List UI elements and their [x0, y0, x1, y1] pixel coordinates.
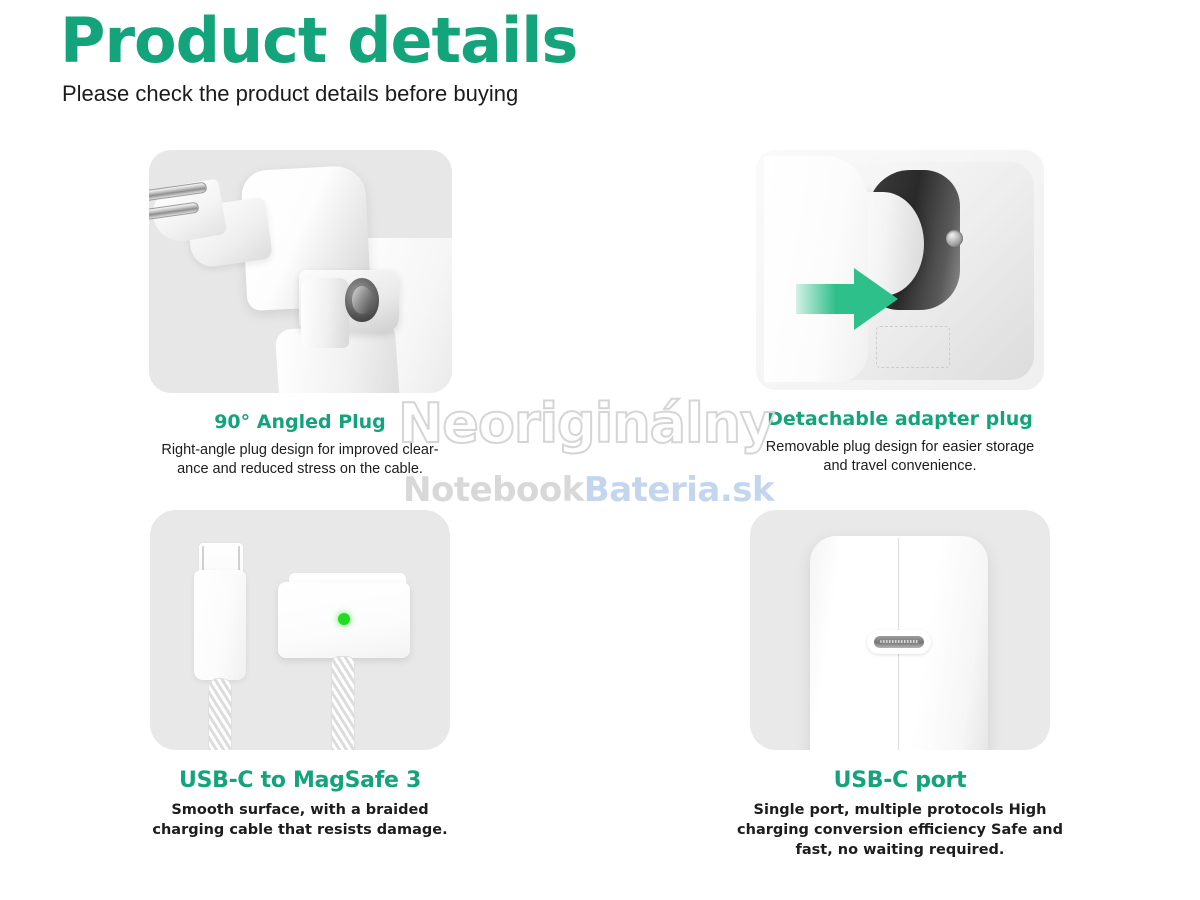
feature-description: Smooth surface, with a braided charging … — [0, 801, 600, 840]
eu-plug-illustration — [149, 150, 452, 393]
usbc-port-image — [750, 510, 1050, 750]
feature-description-line: Single port, multiple protocols High — [600, 801, 1200, 821]
usbc-to-magsafe-caption: USB-C to MagSafe 3 Smooth surface, with … — [0, 768, 600, 841]
feature-description: Right-angle plug design for improved cle… — [0, 441, 600, 480]
plug-stem-shape — [301, 278, 349, 348]
feature-card-detachable-plug: Detachable adapter plug Removable plug d… — [600, 150, 1200, 510]
feature-description-line: Smooth surface, with a braided — [0, 801, 600, 821]
usbc-port-caption: USB-C port Single port, multiple protoco… — [600, 768, 1200, 860]
detachable-plug-caption: Detachable adapter plug Removable plug d… — [600, 408, 1200, 477]
charging-led-indicator — [338, 613, 350, 625]
feature-title: USB-C to MagSafe 3 — [0, 768, 600, 794]
feature-card-usbc-to-magsafe: USB-C to MagSafe 3 Smooth surface, with … — [0, 510, 600, 880]
feature-title: USB-C port — [600, 768, 1200, 794]
feature-grid: 90° Angled Plug Right-angle plug design … — [0, 150, 1200, 880]
detachable-plug-illustration — [756, 150, 1044, 390]
page-header: Product details Please check the product… — [60, 8, 1060, 107]
product-details-page: Product details Please check the product… — [0, 0, 1200, 900]
detachable-plug-image — [756, 150, 1044, 390]
rotation-hub-ring — [352, 286, 372, 314]
usb-c-port-slot-icon — [874, 636, 924, 648]
feature-description-line: fast, no waiting required. — [600, 841, 1200, 861]
feature-description-line: and travel convenience. — [600, 457, 1200, 477]
feature-row-1: 90° Angled Plug Right-angle plug design … — [0, 150, 1200, 510]
feature-row-2: USB-C to MagSafe 3 Smooth surface, with … — [0, 510, 1200, 880]
feature-description-line: ance and reduced stress on the cable. — [0, 460, 600, 480]
angled-plug-image — [149, 150, 452, 393]
feature-description: Removable plug design for easier storage… — [600, 438, 1200, 477]
screw-icon — [946, 230, 963, 247]
feature-description-line: Removable plug design for easier storage — [600, 438, 1200, 458]
direction-arrow-icon — [796, 268, 901, 330]
feature-description-line: charging cable that resists damage. — [0, 821, 600, 841]
feature-description-line: charging conversion efficiency Safe and — [600, 821, 1200, 841]
feature-title: Detachable adapter plug — [600, 408, 1200, 431]
braided-cable-usbc-side — [208, 678, 232, 750]
ghost-outline-shape — [876, 326, 950, 368]
usbc-to-magsafe-image — [150, 510, 450, 750]
charger-port-illustration — [750, 510, 1050, 750]
braided-cable-magsafe-side — [331, 656, 355, 750]
page-subtitle: Please check the product details before … — [62, 81, 1060, 107]
feature-title: 90° Angled Plug — [0, 411, 600, 434]
cable-illustration — [150, 510, 450, 750]
usb-c-connector-shell — [194, 570, 246, 680]
feature-card-angled-plug: 90° Angled Plug Right-angle plug design … — [0, 150, 600, 510]
arrow-head — [854, 268, 898, 330]
angled-plug-caption: 90° Angled Plug Right-angle plug design … — [0, 411, 600, 480]
feature-card-usbc-port: USB-C port Single port, multiple protoco… — [600, 510, 1200, 880]
feature-description: Single port, multiple protocols High cha… — [600, 801, 1200, 860]
arrow-shaft — [796, 284, 860, 314]
page-title: Product details — [60, 8, 1060, 73]
feature-description-line: Right-angle plug design for improved cle… — [0, 441, 600, 461]
